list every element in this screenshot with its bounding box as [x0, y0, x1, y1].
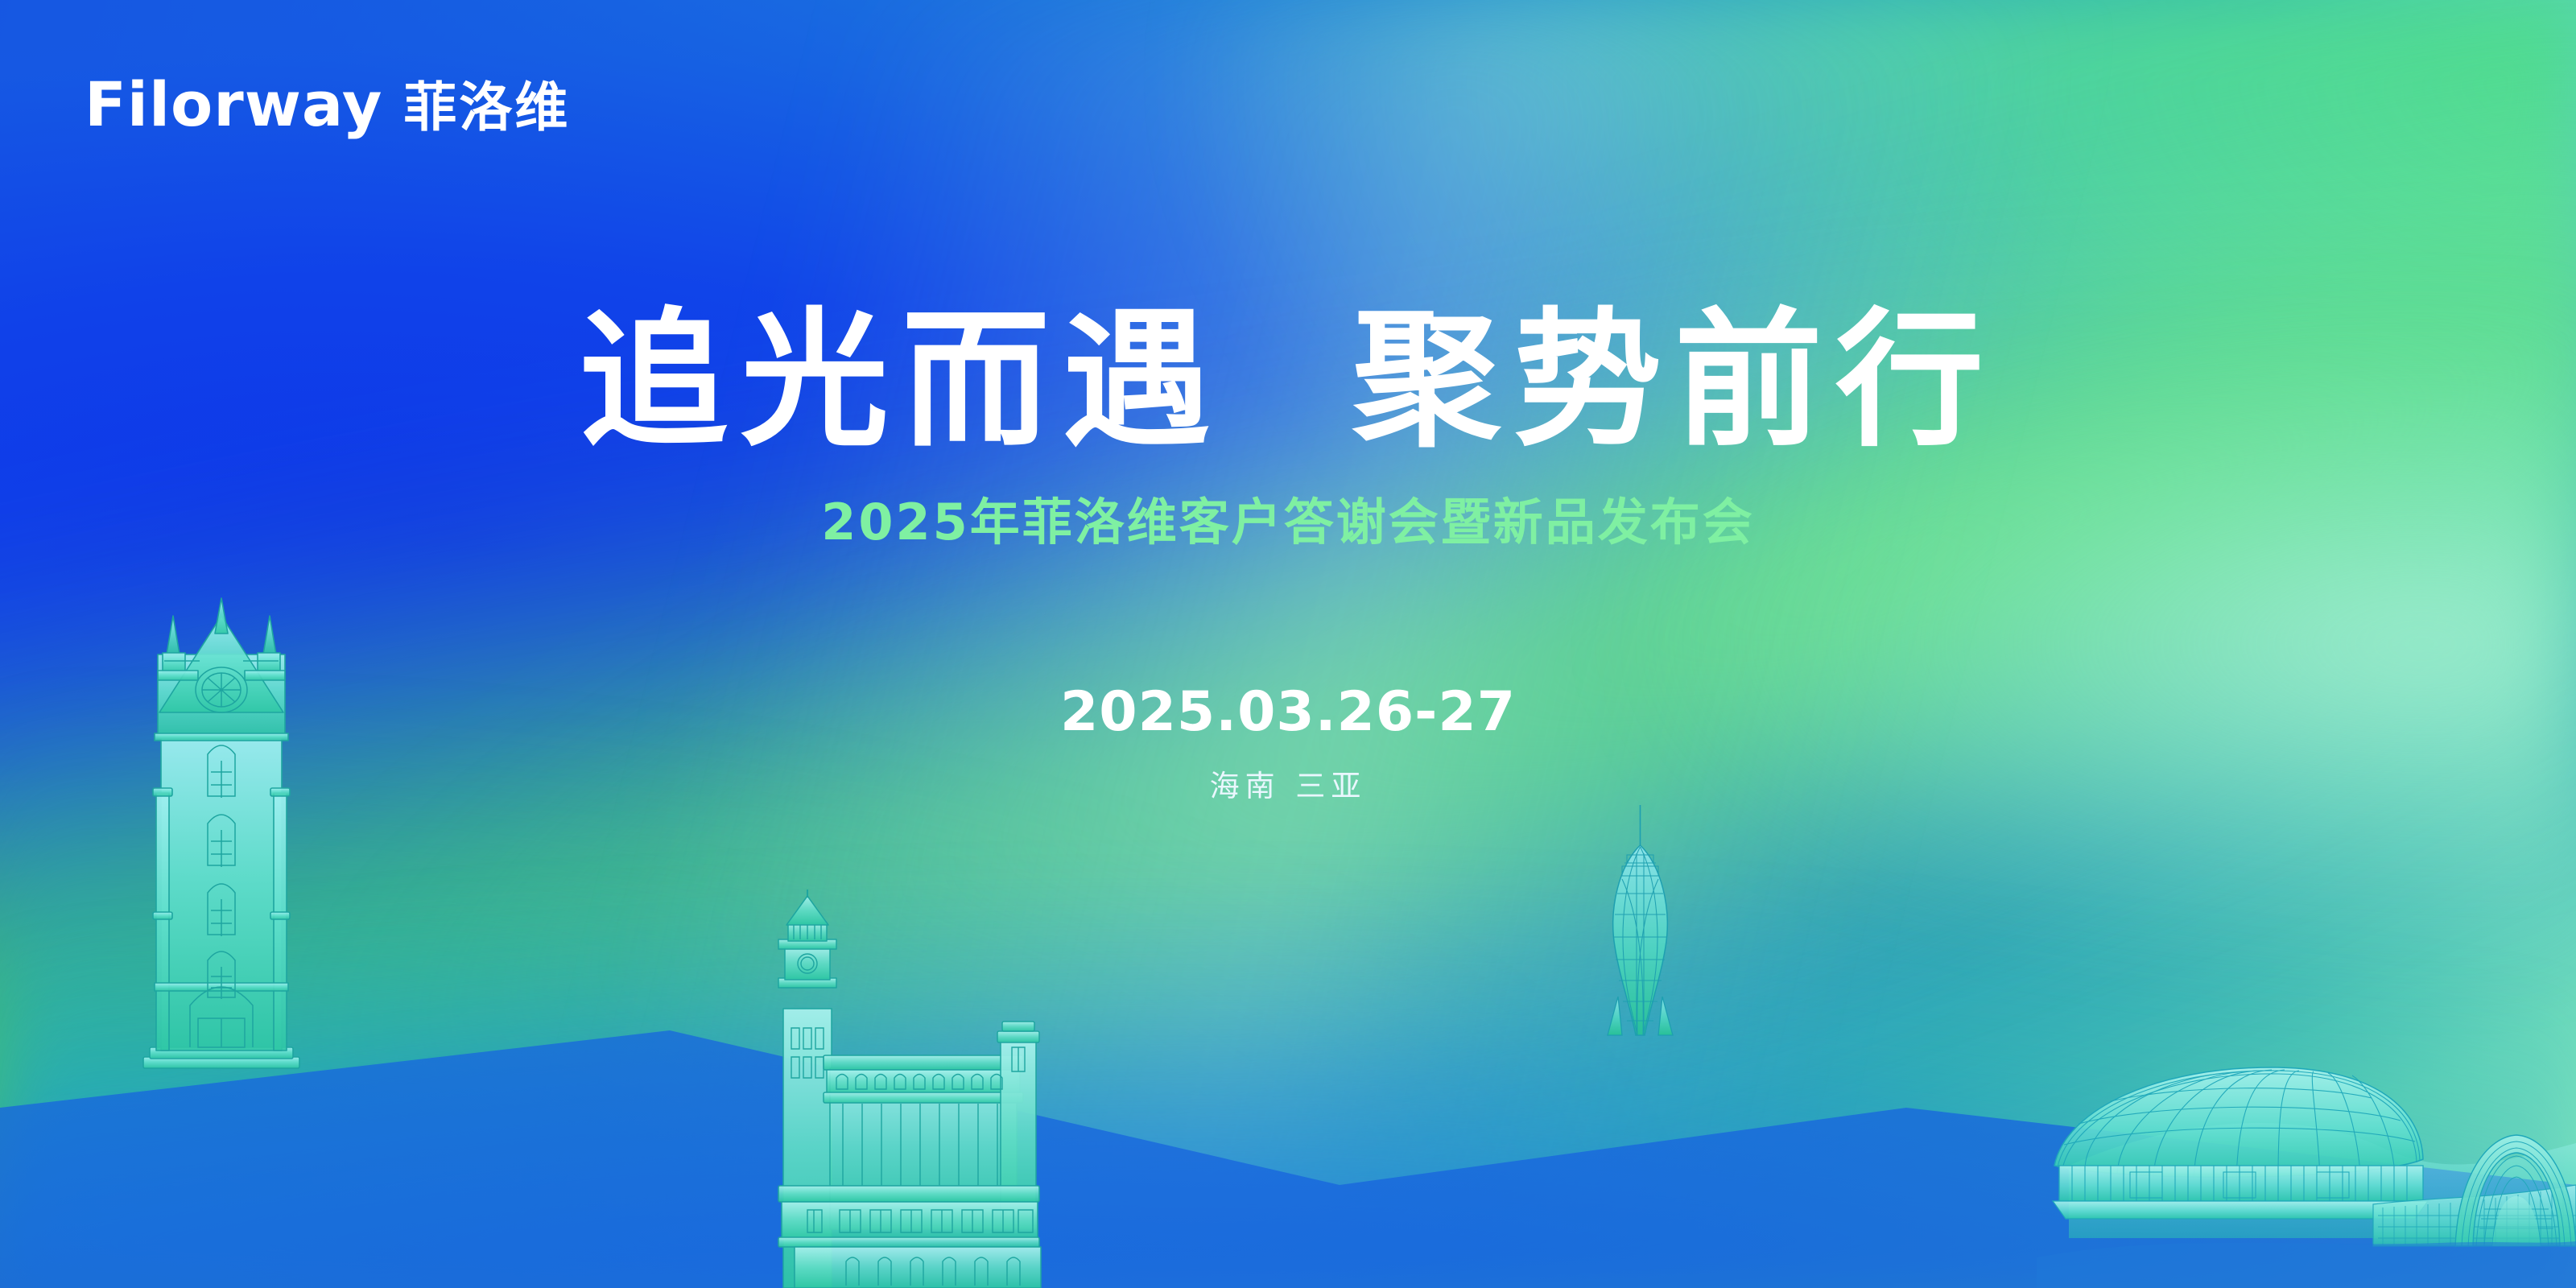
page-subtitle: 2025年菲洛维客户答谢会暨新品发布会: [0, 481, 2576, 554]
background-cyan-lowerleft: [0, 0, 2576, 1288]
background-blue-bottom: [0, 0, 2576, 1288]
event-location: 海南 三亚: [0, 762, 2576, 805]
event-meta-block: 2025.03.26-27 海南 三亚: [0, 680, 2576, 805]
customs-house-illustration: [769, 890, 1051, 1288]
background-bottom-plateau: [0, 0, 2576, 1288]
background-green-topright: [0, 0, 2576, 1288]
page-title: 追光而遇 聚势前行: [0, 298, 2576, 464]
background-light-streak: [0, 0, 2576, 1288]
background-green-ribbon-a: [0, 0, 2576, 1288]
dome-convention-centre-illustration: [2037, 1046, 2576, 1288]
spire-tower-illustration: [1598, 805, 1682, 1038]
background-base-gradient: [0, 0, 2576, 1288]
event-date: 2025.03.26-27: [0, 680, 2576, 744]
background-mint-highlight: [0, 0, 2576, 1288]
background-blue-core: [0, 0, 2576, 1288]
clock-tower-illustration: [137, 592, 306, 1075]
logo-wordmark: Filorway: [85, 74, 382, 135]
background-green-ribbon-b: [0, 0, 2576, 1288]
logo-chinese-name: 菲洛维: [403, 81, 570, 134]
event-banner: Filorway 菲洛维 追光而遇 聚势前行 2025年菲洛维客户答谢会暨新品发…: [0, 0, 2576, 1288]
brand-logo[interactable]: Filorway 菲洛维: [85, 74, 570, 135]
hero-text-block: 追光而遇 聚势前行 2025年菲洛维客户答谢会暨新品发布会: [0, 298, 2576, 554]
